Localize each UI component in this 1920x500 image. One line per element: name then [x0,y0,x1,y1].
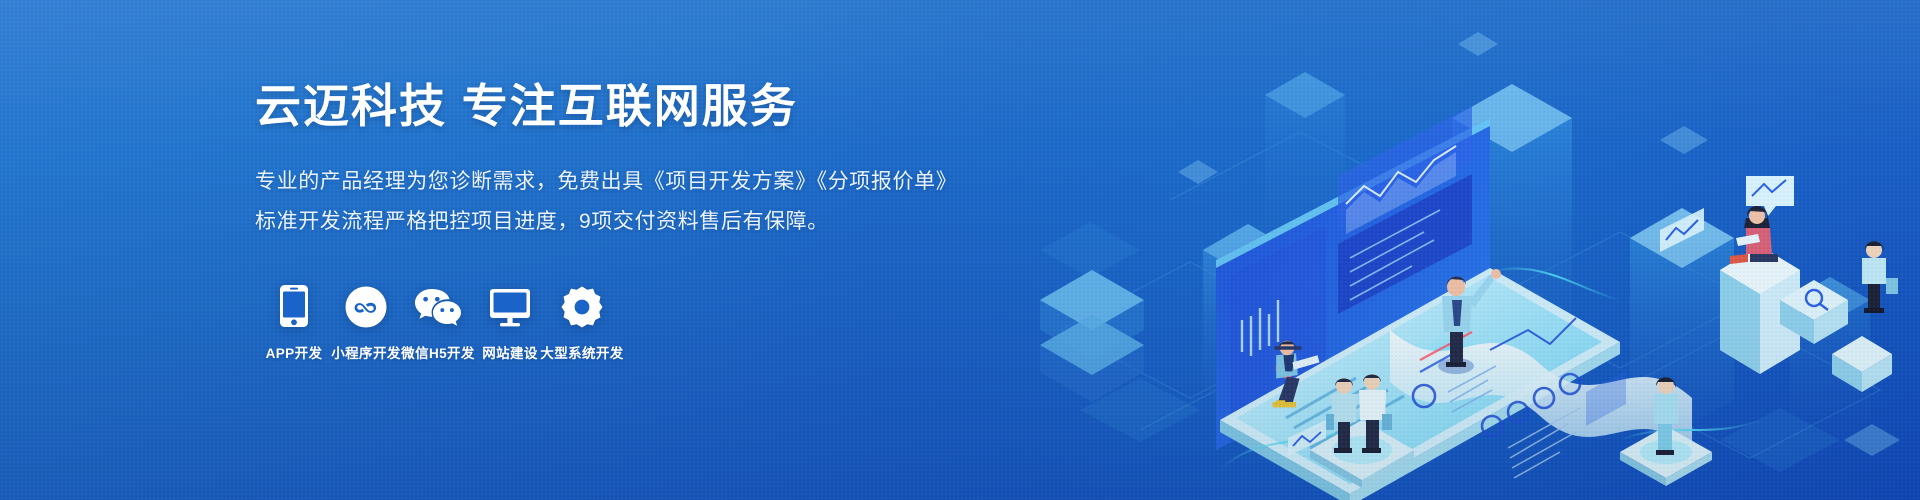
service-item-website-construction[interactable]: 网站建设 [474,282,546,362]
mobile-phone-icon [279,282,309,328]
hero-copy: 云迈科技 专注互联网服务 专业的产品经理为您诊断需求，免费出具《项目开发方案》《… [255,78,975,243]
service-label: 小程序开发 [331,342,401,362]
service-label: APP开发 [266,342,323,362]
subtitle-line-2: 标准开发流程严格把控项目进度，9项交付资料售后有保障。 [255,202,975,243]
service-label: 网站建设 [482,342,538,362]
service-item-wechat-h5-development[interactable]: 微信H5开发 [402,282,474,362]
monitor-icon [489,282,531,328]
isometric-digital-city-illustration [1020,0,1920,500]
mini-program-icon [345,282,387,328]
wechat-icon [414,282,462,328]
service-item-large-system-development[interactable]: 大型系统开发 [546,282,618,362]
hero-banner: 云迈科技 专注互联网服务 专业的产品经理为您诊断需求，免费出具《项目开发方案》《… [0,0,1920,500]
service-list: APP开发 小程序开发 微信 [258,282,618,362]
service-item-app-development[interactable]: APP开发 [258,282,330,362]
service-label: 大型系统开发 [540,342,623,362]
page-title: 云迈科技 专注互联网服务 [255,78,975,136]
subtitle-line-1: 专业的产品经理为您诊断需求，免费出具《项目开发方案》《分项报价单》 [255,162,975,203]
service-label: 微信H5开发 [401,342,475,362]
hero-subtitle: 专业的产品经理为您诊断需求，免费出具《项目开发方案》《分项报价单》 标准开发流程… [255,162,975,244]
service-item-mini-program-development[interactable]: 小程序开发 [330,282,402,362]
gear-icon [561,282,603,328]
